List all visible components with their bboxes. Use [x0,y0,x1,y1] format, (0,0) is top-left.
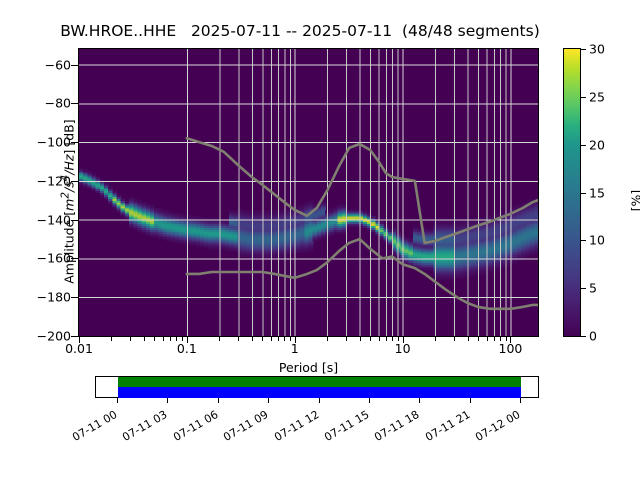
psd-coverage-band [118,377,521,387]
timeline-tick-label: 07-11 21 [414,408,472,449]
y-tick-label: −180 [37,290,71,305]
x-axis-title: Period [s] [78,360,539,375]
x-minor-tick [154,337,155,341]
y-tick-label: −140 [37,212,71,227]
colorbar-tick [581,97,586,98]
colorbar-tick-label: 0 [589,329,597,344]
x-minor-tick [454,337,455,341]
timeline-tick-label: 07-11 18 [363,408,421,449]
timeline-tick-label: 07-11 03 [111,408,169,449]
y-tick-label: −120 [37,173,71,188]
x-minor-tick [487,337,488,341]
x-minor-tick [163,337,164,341]
timeline-tick [319,398,320,403]
x-minor-tick [398,337,399,341]
timeline-tick [520,398,521,403]
x-tick-label: 1 [291,341,299,356]
x-minor-tick [494,337,495,341]
x-minor-tick [238,337,239,341]
y-tick [71,181,78,182]
timeline-tick-label: 07-11 09 [212,408,270,449]
ppsd-density-plot [79,49,538,336]
x-minor-tick [170,337,171,341]
timeline-tick-label: 07-11 12 [263,408,321,449]
x-tick [187,337,188,343]
colorbar-tick [581,193,586,194]
page-title: BW.HROE..HHE 2025-07-11 -- 2025-07-11 (4… [0,22,600,40]
x-minor-tick [346,337,347,341]
y-tick [71,65,78,66]
x-minor-tick [144,337,145,341]
timeline-tick-label: 07-12 00 [464,408,522,449]
colorbar-tick [581,240,586,241]
x-tick [403,337,404,343]
coverage-timeline[interactable] [95,376,539,398]
y-tick [71,297,78,298]
timeline-tick [117,398,118,403]
x-minor-tick [262,337,263,341]
colorbar[interactable] [563,48,581,337]
timeline-tick-label: 07-11 06 [162,408,220,449]
y-tick-label: −80 [45,96,71,111]
colorbar-title: [%] [629,131,640,271]
y-tick-label: −160 [37,251,71,266]
x-minor-tick [435,337,436,341]
x-minor-tick [271,337,272,341]
x-minor-tick [506,337,507,341]
x-minor-tick [360,337,361,341]
y-tick-label: −100 [37,135,71,150]
x-minor-tick [327,337,328,341]
x-tick-label: 0.1 [177,341,197,356]
timeline-tick [167,398,168,403]
colorbar-tick-label: 25 [589,89,605,104]
x-minor-tick [182,337,183,341]
x-minor-tick [468,337,469,341]
x-minor-tick [278,337,279,341]
x-minor-tick [290,337,291,341]
colorbar-tick-label: 10 [589,233,605,248]
colorbar-tick-label: 30 [589,42,605,57]
y-tick-label: −60 [45,57,71,72]
x-tick [510,337,511,343]
y-tick [71,258,78,259]
colorbar-tick [581,288,586,289]
x-minor-tick [284,337,285,341]
timeline-tick [419,398,420,403]
x-minor-tick [111,337,112,341]
y-tick [71,103,78,104]
colorbar-tick [581,49,586,50]
x-minor-tick [219,337,220,341]
colorbar-tick-label: 5 [589,281,597,296]
y-tick [71,336,78,337]
ppsd-plot-area[interactable] [78,48,539,337]
x-tick [295,337,296,343]
x-tick [79,337,80,343]
colorbar-tick-label: 15 [589,185,605,200]
timeline-tick-label: 07-11 00 [61,408,119,449]
ppsd-figure: BW.HROE..HHE 2025-07-11 -- 2025-07-11 (4… [0,0,640,480]
timeline-tick [369,398,370,403]
y-tick [71,142,78,143]
timeline-tick [268,398,269,403]
timeline-tick [218,398,219,403]
x-minor-tick [392,337,393,341]
colorbar-tick [581,336,586,337]
x-tick-label: 10 [395,341,411,356]
x-minor-tick [252,337,253,341]
timeline-tick [470,398,471,403]
y-tick [71,220,78,221]
x-minor-tick [478,337,479,341]
x-tick-label: 100 [499,341,523,356]
x-minor-tick [379,337,380,341]
data-coverage-band [118,387,521,398]
colorbar-tick [581,145,586,146]
x-minor-tick [176,337,177,341]
x-minor-tick [500,337,501,341]
x-minor-tick [130,337,131,341]
timeline-tick-label: 07-11 15 [313,408,371,449]
x-minor-tick [386,337,387,341]
colorbar-tick-label: 20 [589,137,605,152]
x-tick-label: 0.01 [65,341,93,356]
x-minor-tick [370,337,371,341]
